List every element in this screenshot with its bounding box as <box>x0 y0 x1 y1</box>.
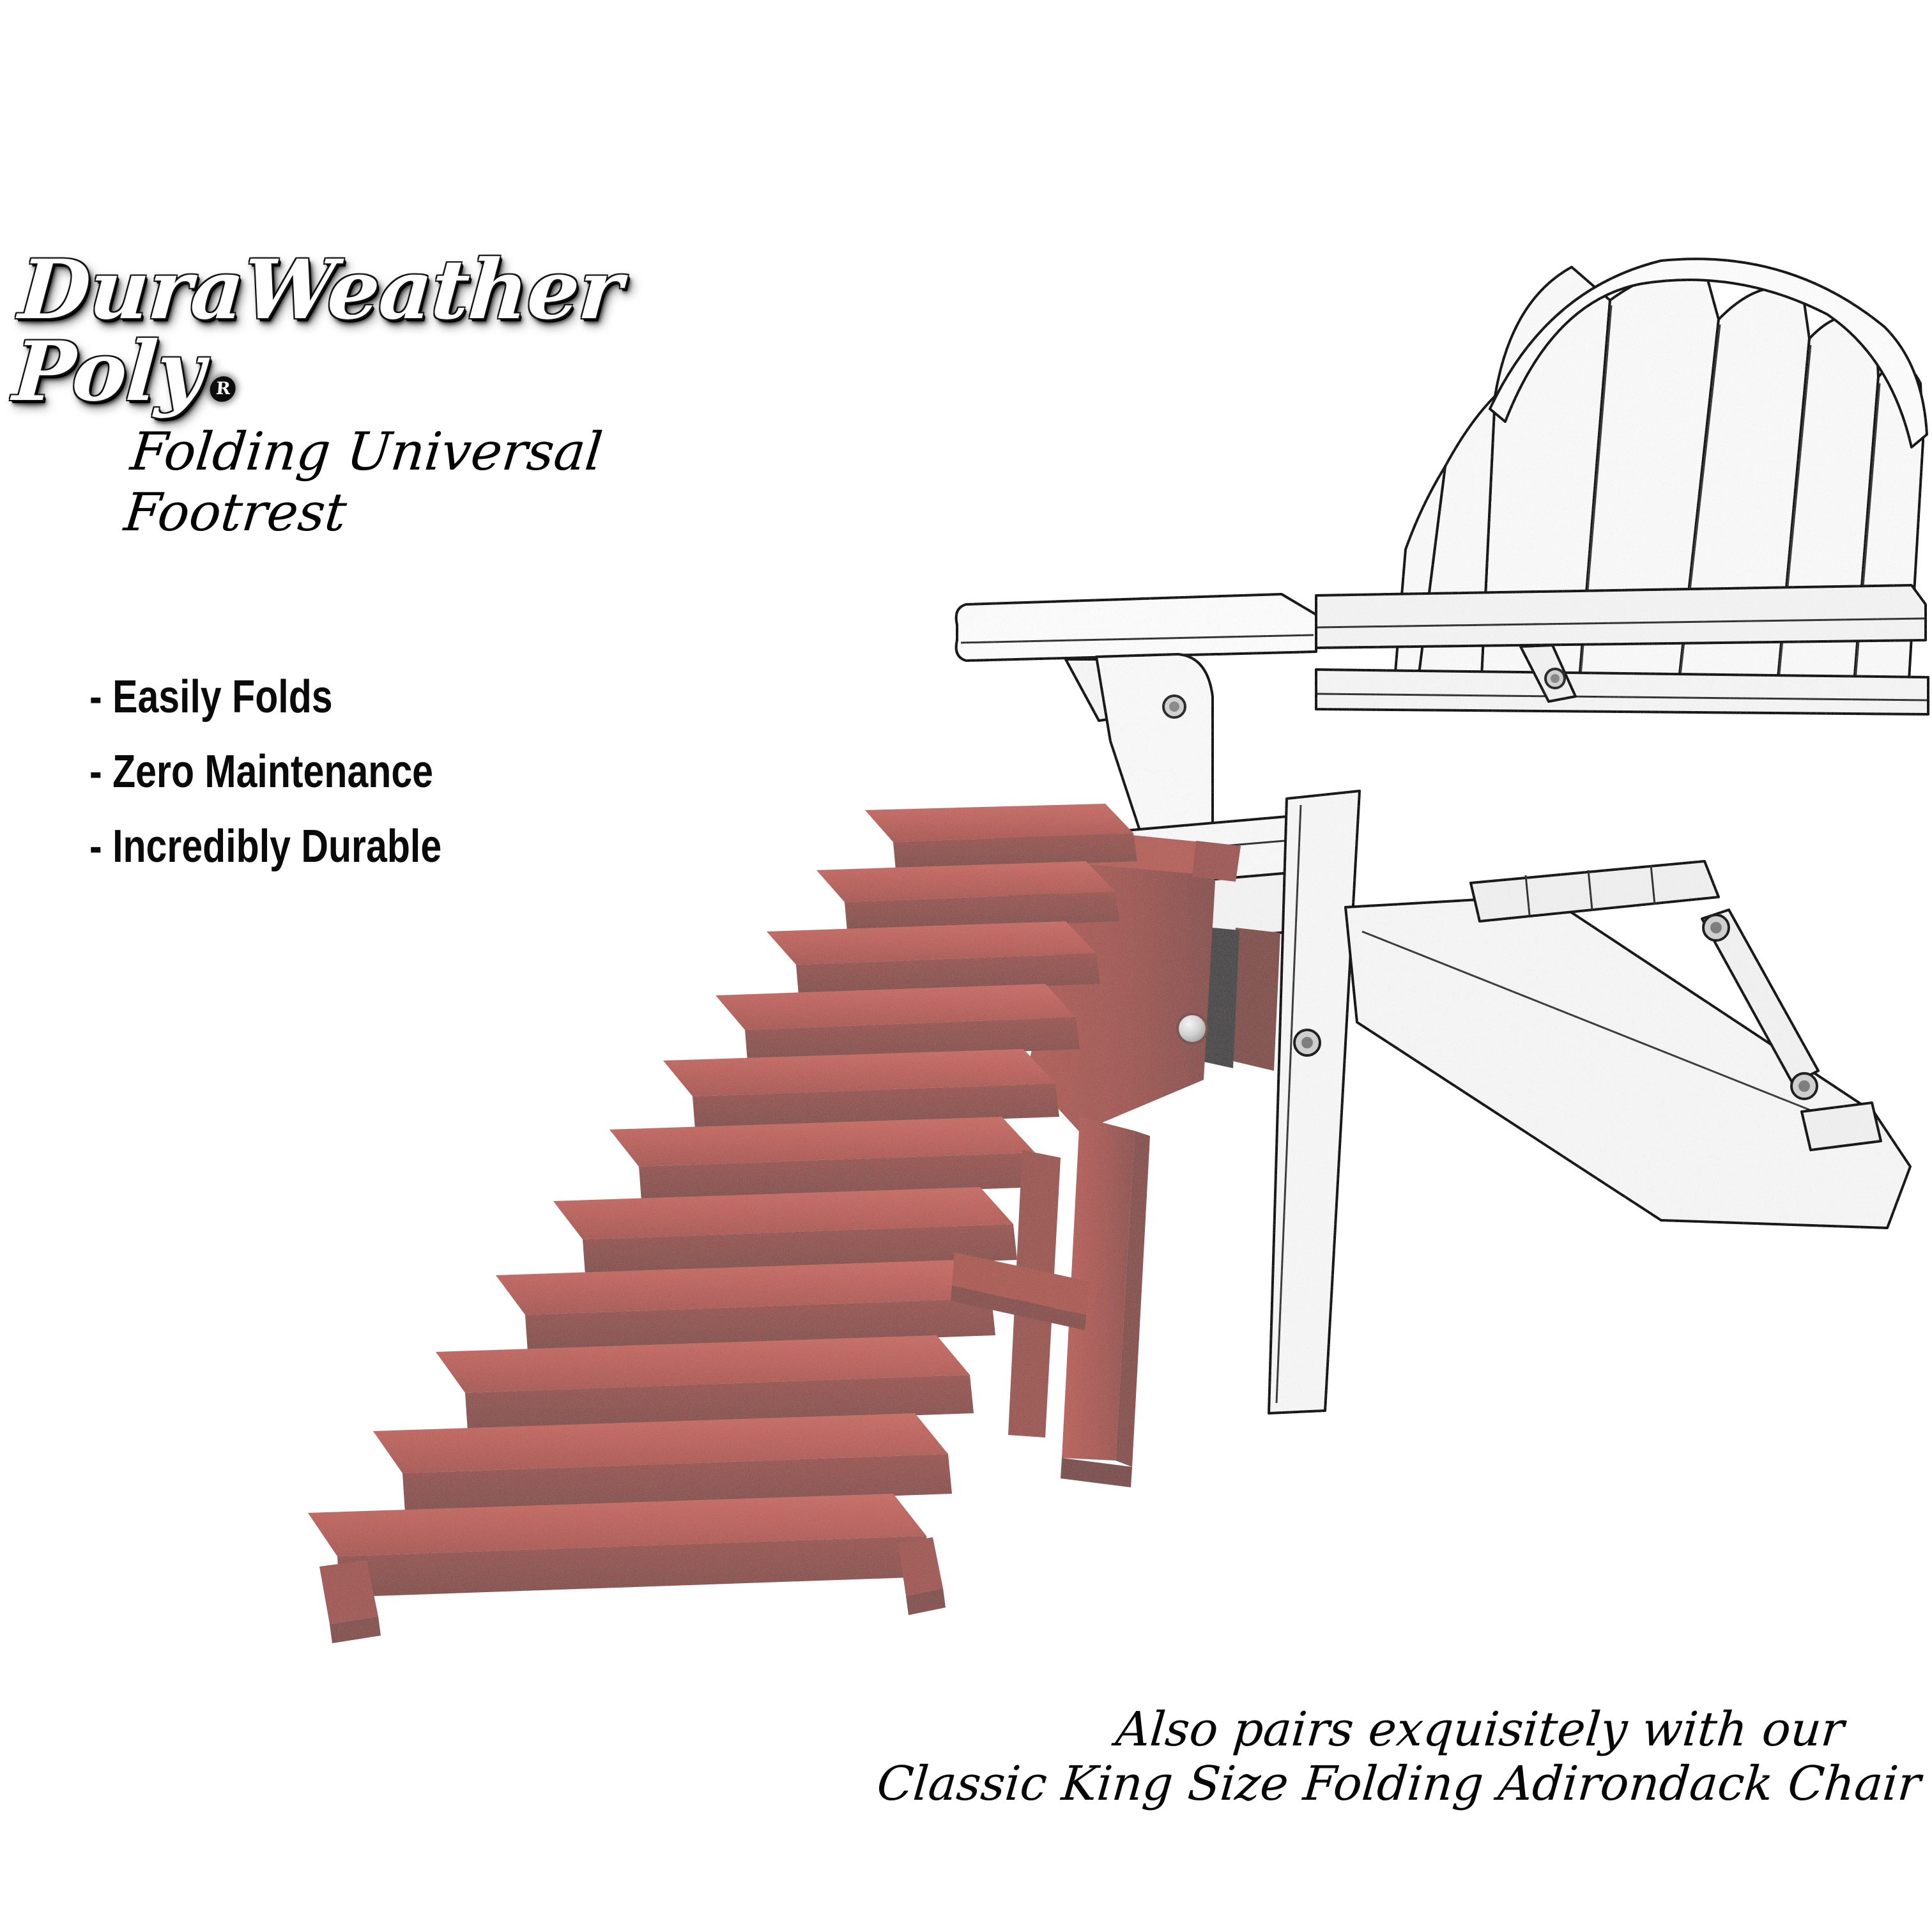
chair-lower-crossbar <box>1471 861 1719 921</box>
chair-arm-bracket <box>1066 659 1124 721</box>
chair-rear-runner-edge <box>1362 931 1872 1135</box>
chair-armrest-front-edge <box>961 635 1314 643</box>
feature-list: - Easily Folds - Zero Maintenance - Incr… <box>89 674 519 898</box>
footrest-slat <box>816 861 1119 931</box>
footrest-foot-left-face <box>330 1616 381 1643</box>
pairing-caption-line-1: Also pairs exquisitely with our <box>875 1703 1922 1756</box>
product-name: Folding Universal Footrest <box>121 422 805 543</box>
footrest-foot-right-face <box>906 1588 946 1615</box>
footrest-slat <box>609 1117 1039 1201</box>
footrest-rail-bolt <box>1177 1014 1207 1043</box>
chair-back-rail-face <box>1317 694 1927 700</box>
chair-armrest-far-edge <box>1317 618 1924 627</box>
chair-seat-front-plank <box>976 816 1317 905</box>
footrest-slat <box>663 1049 1059 1130</box>
chair-arm-post <box>1096 654 1213 842</box>
chair-hinge-strut <box>1702 910 1818 1084</box>
chair-hinge-pin-upper <box>1703 915 1729 940</box>
footrest-slat <box>767 921 1100 995</box>
feature-item: - Easily Folds <box>89 674 441 720</box>
footrest-slat <box>436 1335 974 1431</box>
footrest-slat <box>716 984 1080 1062</box>
registered-trademark-icon: R <box>209 376 236 402</box>
adirondack-chair-illustration <box>956 259 1928 1413</box>
feature-item: - Zero Maintenance <box>89 749 441 795</box>
product-marketing-image: DuraWeather PolyR Folding Universal Foot… <box>0 0 1932 1932</box>
chair-base-block <box>1802 1103 1881 1150</box>
footrest-far-rail <box>1230 928 1280 1071</box>
chair-front-leg <box>1269 791 1360 1413</box>
brand-logo-text: DuraWeather Poly <box>10 242 625 420</box>
chair-back-rail <box>1316 670 1928 714</box>
feature-item: - Incredibly Durable <box>89 824 441 870</box>
footrest-slat <box>373 1413 952 1513</box>
brand-block: DuraWeather PolyR Folding Universal Foot… <box>0 249 799 543</box>
footrest-slat <box>553 1187 1017 1275</box>
folding-footrest-illustration <box>308 804 1280 1643</box>
chair-back-slats <box>1394 267 1923 701</box>
footrest-cavity <box>1181 925 1239 1068</box>
footrest-slat-gaps <box>888 841 1132 861</box>
chair-rear-runner <box>1345 896 1910 1228</box>
footrest-near-rail-cap <box>1192 841 1241 882</box>
chair-front-leg-shade <box>1276 805 1301 1403</box>
footrest-slat-deck <box>308 804 1137 1597</box>
chair-armrest-far <box>1316 585 1926 648</box>
footrest-near-rail-top <box>994 810 1201 874</box>
footrest-front-leg <box>1062 1117 1135 1460</box>
footrest-slat <box>865 804 1137 870</box>
brand-logo: DuraWeather PolyR <box>11 249 804 413</box>
chair-arm-screw <box>1163 696 1185 717</box>
footrest-near-rail <box>1026 831 1215 1132</box>
footrest-foot-right <box>898 1537 943 1596</box>
chair-hinge-pin-lower <box>1791 1073 1817 1099</box>
footrest-front-leg-foot <box>1061 1458 1132 1487</box>
chair-arm-bracket-far <box>1521 645 1575 701</box>
chair-back-seams <box>1579 305 1880 696</box>
chair-seat-plank-2 <box>1008 870 1342 953</box>
chair-crest-cap <box>1490 259 1927 447</box>
pairing-caption: Also pairs exquisitely with our Classic … <box>877 1703 1920 1811</box>
chair-seat-screw <box>1294 1030 1320 1055</box>
chair-armrest <box>956 594 1316 661</box>
chair-seat-front-edge <box>981 838 1315 866</box>
footrest-foot-left <box>319 1560 378 1624</box>
chair-arm-screw-far <box>1545 669 1565 688</box>
footrest-front-leg-face <box>1115 1131 1150 1467</box>
pairing-caption-line-2: Classic King Size Folding Adirondack Cha… <box>875 1757 1922 1811</box>
footrest-slat <box>496 1260 995 1352</box>
footrest-leg-brace <box>952 1252 1090 1315</box>
chair-crossbar-notches <box>1526 865 1655 915</box>
footrest-rear-leg <box>1008 1150 1061 1437</box>
footrest-slat <box>308 1494 930 1597</box>
footrest-leg-brace-face <box>951 1285 1086 1330</box>
